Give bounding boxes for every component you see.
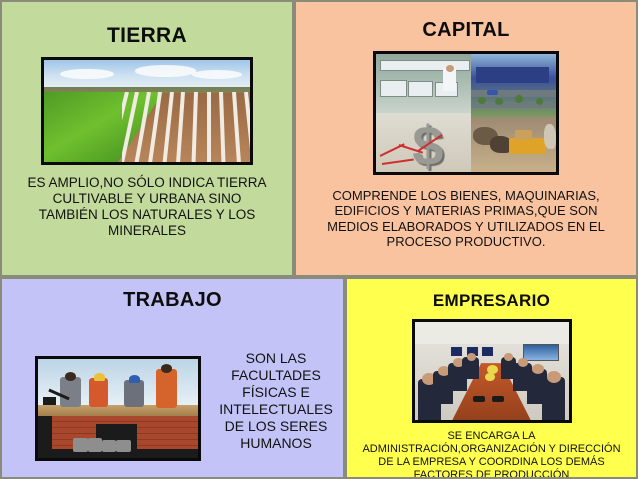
quadrant-title-empresario: EMPRESARIO — [347, 291, 636, 311]
quadrant-trabajo: TRABAJO — [2, 279, 343, 477]
quadrant-title-tierra: TIERRA — [2, 24, 292, 48]
quadrant-description-trabajo: SON LAS FACULTADES FÍSICAS E INTELECTUAL… — [209, 350, 343, 452]
quadrant-description-empresario: SE ENCARGA LA ADMINISTRACIÓN,ORGANIZACIÓ… — [351, 430, 632, 477]
quadrant-description-tierra: ES AMPLIO,NO SÓLO INDICA TIERRA CULTIVAB… — [10, 175, 284, 239]
construction-workers-photo — [35, 356, 201, 461]
quadrant-empresario: EMPRESARIO — [347, 279, 636, 477]
quadrant-tierra: TIERRA — [2, 2, 292, 275]
quadrant-title-trabajo: TRABAJO — [2, 289, 343, 312]
quadrant-title-capital: CAPITAL — [296, 19, 636, 42]
quadrant-capital: CAPITAL — [296, 2, 636, 275]
capital-collage-photo: $ — [373, 51, 559, 175]
factors-of-production-slide: TIERRA — [0, 0, 638, 479]
crop-field-photo — [41, 57, 253, 165]
boardroom-meeting-photo — [412, 319, 572, 423]
quadrant-description-capital: COMPRENDE LOS BIENES, MAQUINARIAS, EDIFI… — [306, 188, 626, 249]
